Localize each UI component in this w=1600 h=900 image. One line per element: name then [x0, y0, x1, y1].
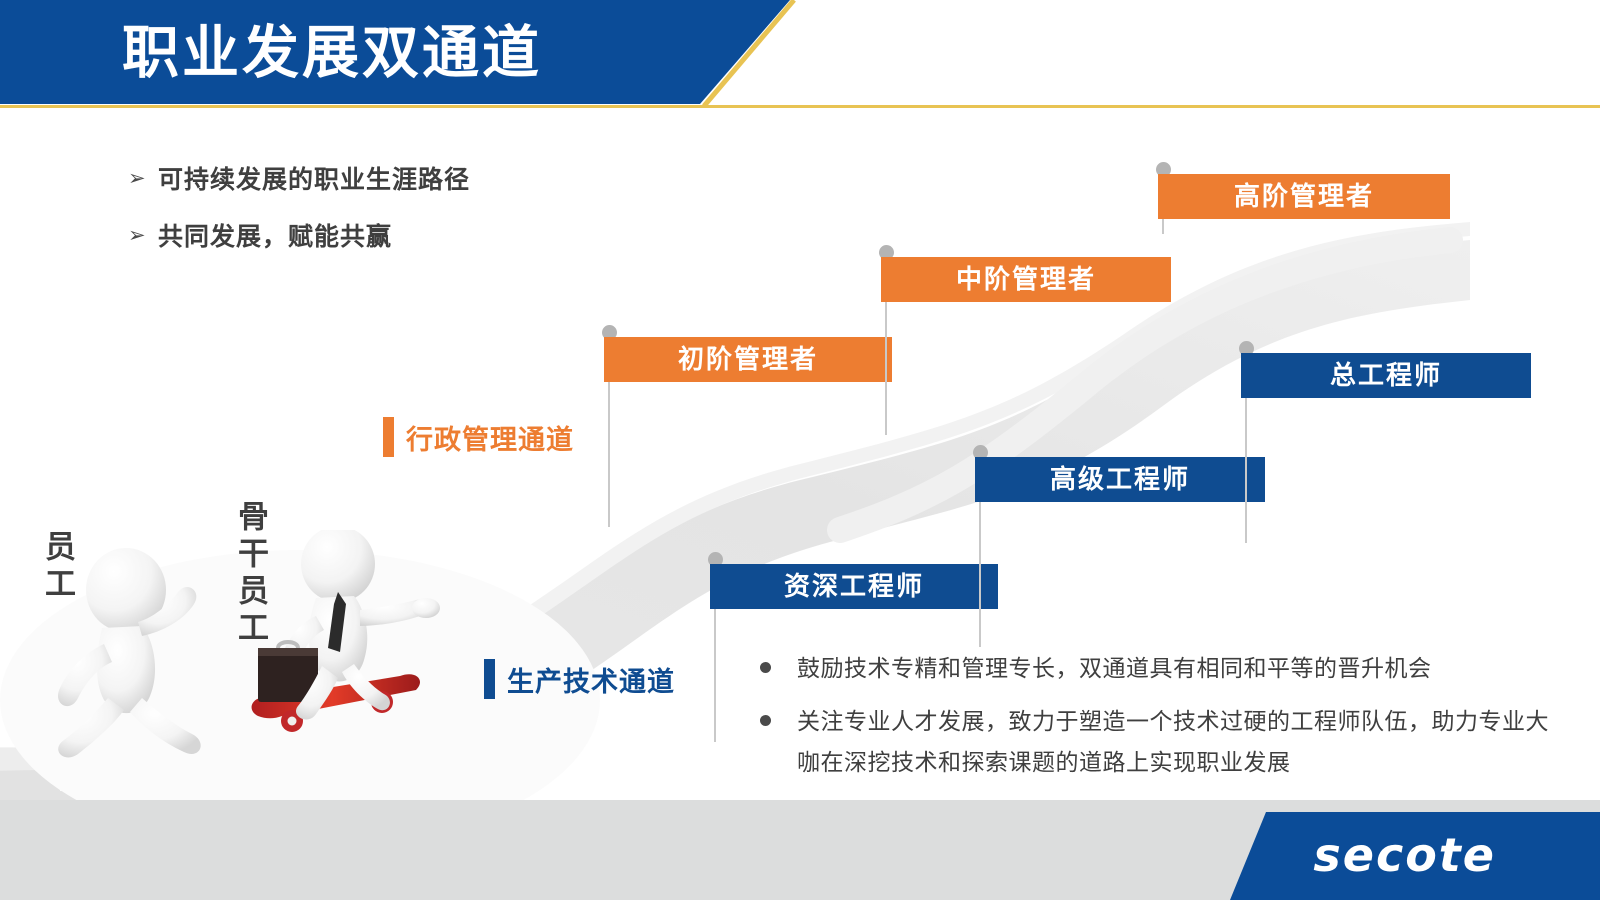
milestone-junior-manager[interactable]: 初阶管理者: [604, 337, 892, 382]
list-item: 关注专业人才发展，致力于塑造一个技术过硬的工程师队伍，助力专业大咖在深挖技术和探…: [760, 701, 1550, 783]
milestone-label: 总工程师: [1241, 353, 1531, 398]
list-item: 鼓励技术专精和管理专长，双通道具有相同和平等的晋升机会: [760, 648, 1550, 689]
milestone-staff-engineer[interactable]: 资深工程师: [710, 564, 998, 609]
figure-label-core-employee: 骨干员工: [228, 500, 273, 648]
milestone-label: 中阶管理者: [881, 257, 1171, 302]
intro-bullet-text: 共同发展，赋能共赢: [158, 217, 392, 253]
page-title: 职业发展双通道: [122, 8, 542, 98]
intro-bullet-text: 可持续发展的职业生涯路径: [158, 160, 470, 196]
list-item: ➢ 可持续发展的职业生涯路径: [128, 160, 688, 196]
milestone-label: 高阶管理者: [1158, 174, 1450, 219]
figure-leg-right: [130, 698, 201, 754]
track-tick-icon: [484, 659, 495, 699]
figure-head: [301, 530, 375, 602]
slide-canvas: 职业发展双通道 ➢ 可持续发展的职业生涯路径 ➢ 共同发展，赋能共赢 初阶管理者…: [0, 0, 1600, 900]
figure-torso: [97, 626, 155, 713]
milestone-mid-manager[interactable]: 中阶管理者: [881, 257, 1171, 302]
milestone-label: 资深工程师: [710, 564, 998, 609]
arrow-bullet-icon: ➢: [128, 168, 158, 189]
note-text: 关注专业人才发展，致力于塑造一个技术过硬的工程师队伍，助力专业大咖在深挖技术和探…: [797, 701, 1550, 783]
intro-bullet-list: ➢ 可持续发展的职业生涯路径 ➢ 共同发展，赋能共赢: [128, 160, 688, 274]
milestone-chief-engineer[interactable]: 总工程师: [1241, 353, 1531, 398]
dot-bullet-icon: [760, 662, 771, 673]
figure-label-employee: 员工: [35, 530, 80, 604]
milestone-label: 初阶管理者: [604, 337, 892, 382]
figure-hand-right: [412, 598, 440, 618]
note-text: 鼓励技术专精和管理专长，双通道具有相同和平等的晋升机会: [797, 648, 1432, 689]
header-gold-rule: [0, 105, 1600, 108]
track-label: 生产技术通道: [507, 660, 675, 699]
notes-list: 鼓励技术专精和管理专长，双通道具有相同和平等的晋升机会 关注专业人才发展，致力于…: [760, 648, 1550, 795]
brand-logo: secote: [1313, 828, 1496, 882]
milestone-label: 高级工程师: [975, 457, 1265, 502]
list-item: ➢ 共同发展，赋能共赢: [128, 217, 688, 253]
track-tag-management: 行政管理通道: [383, 417, 574, 457]
figure-leg-left: [58, 698, 124, 757]
wheel-hub-rear: [288, 717, 297, 726]
arrow-bullet-icon: ➢: [128, 225, 158, 246]
track-tick-icon: [383, 417, 394, 457]
dot-bullet-icon: [760, 715, 771, 726]
milestone-senior-manager[interactable]: 高阶管理者: [1158, 174, 1450, 219]
track-tag-technical: 生产技术通道: [484, 659, 675, 699]
track-label: 行政管理通道: [406, 418, 574, 457]
milestone-senior-engineer[interactable]: 高级工程师: [975, 457, 1265, 502]
briefcase-top: [258, 648, 318, 656]
